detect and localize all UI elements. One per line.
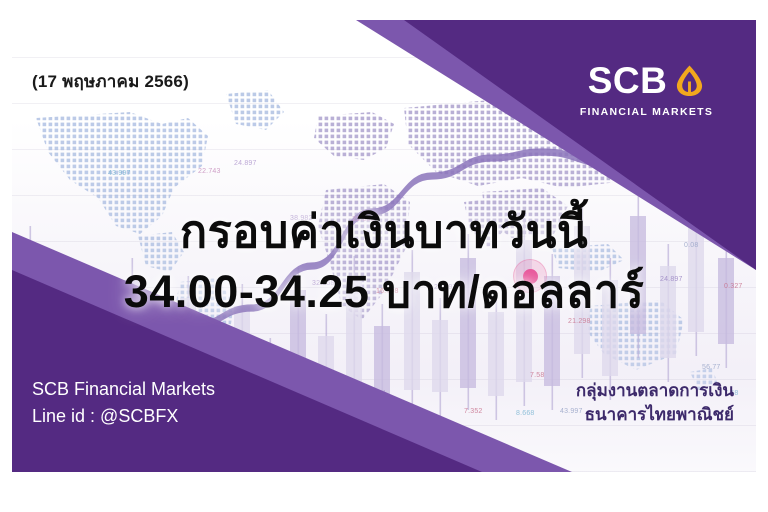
scb-logo: SCB FINANCIAL MARKETS — [559, 62, 734, 118]
poster-card: 43.99724.89722.74338.98222.65885.2244.66… — [12, 20, 756, 472]
headline-line-2: 34.00-34.25 บาท/ดอลลาร์ — [12, 266, 756, 318]
footer-department-line-2: ธนาคารไทยพาณิชย์ — [576, 403, 734, 428]
scb-leaf-icon — [674, 64, 705, 97]
ticker-label: 56.77 — [702, 364, 721, 371]
publish-date: (17 พฤษภาคม 2566) — [32, 68, 189, 95]
scb-wordmark: SCB — [588, 62, 668, 99]
poster-canvas: 43.99724.89722.74338.98222.65885.2244.66… — [0, 0, 768, 512]
page-title: กรอบค่าเงินบาทวันนี้ 34.00-34.25 บาท/ดอล… — [12, 206, 756, 318]
ticker-label: 43.997 — [108, 170, 131, 177]
ticker-label: 22.743 — [198, 168, 221, 175]
scb-tagline: FINANCIAL MARKETS — [559, 106, 734, 118]
footer-contact: SCB Financial Markets Line id : @SCBFX — [32, 376, 215, 430]
headline-line-1: กรอบค่าเงินบาทวันนี้ — [12, 206, 756, 258]
ticker-label: 24.897 — [234, 160, 257, 167]
footer-department-line-1: กลุ่มงานตลาดการเงิน — [576, 379, 734, 404]
footer-department: กลุ่มงานตลาดการเงิน ธนาคารไทยพาณิชย์ — [576, 379, 734, 428]
footer-line-id: Line id : @SCBFX — [32, 403, 215, 430]
footer-brand-name: SCB Financial Markets — [32, 376, 215, 403]
